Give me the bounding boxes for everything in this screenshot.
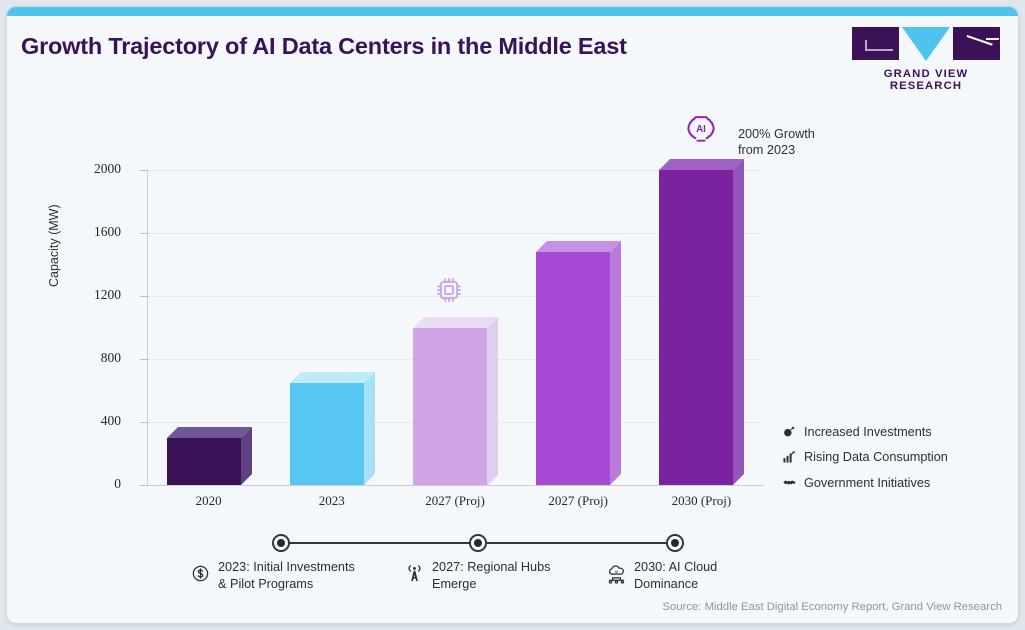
bar-top-face [536,241,621,252]
annotation-line-2: from 2023 [738,142,858,158]
legend-item-government: Government Initiatives [779,470,1009,496]
bar-front-face [659,170,733,485]
timeline-line-1: 2030: AI Cloud [634,560,717,574]
y-axis-title: Capacity (MW) [47,204,61,287]
legend-label: Rising Data Consumption [804,450,948,464]
growth-annotation: 200% Growth from 2023 [738,126,858,158]
y-tick-mark [140,233,148,234]
bar-side-face [733,159,744,485]
timeline-text: 2027: Regional Hubs Emerge [432,559,572,593]
x-tick-label: 2030 (Proj) [646,493,756,509]
timeline-item-2027: 2027: Regional Hubs Emerge [401,559,572,593]
y-tick-label: 2000 [75,161,121,177]
timeline-line-2: & Pilot Programs [218,577,313,591]
top-accent-bar [7,7,1018,16]
legend-label: Increased Investments [804,425,932,439]
handshake-icon [779,475,799,490]
x-tick-label: 2027 (Proj) [523,493,633,509]
svg-text:AI: AI [614,569,618,574]
money-growth-icon [779,425,799,439]
x-tick-label: 2027 (Proj) [400,493,510,509]
svg-text:AI: AI [696,124,706,135]
bar[interactable] [290,383,364,485]
bar-front-face [290,383,364,485]
timeline-dot-2023[interactable] [272,534,290,552]
bar-top-face [413,317,498,328]
y-tick-label: 1600 [75,224,121,240]
legend-item-data-consumption: Rising Data Consumption [779,445,1009,471]
y-tick-mark [140,422,148,423]
logo-wordmark: GRAND VIEW RESEARCH [848,68,1004,92]
chart-card: Growth Trajectory of AI Data Centers in … [6,6,1019,624]
timeline-line-2: Emerge [432,577,476,591]
bar-side-face [364,372,375,485]
x-axis-line [147,485,764,486]
bar-side-face [487,317,498,486]
bar-front-face [536,252,610,485]
page-title: Growth Trajectory of AI Data Centers in … [21,33,627,60]
y-tick-mark [140,359,148,360]
plot-area [147,170,763,485]
timeline-text: 2030: AI Cloud Dominance [634,559,774,593]
bar-front-face [167,438,241,485]
y-tick-mark [140,296,148,297]
bar[interactable] [659,170,733,485]
bar-top-face [290,372,375,383]
legend-item-investments: Increased Investments [779,419,1009,445]
bar[interactable] [167,438,241,485]
bar-top-face [167,427,252,438]
annotation-line-1: 200% Growth [738,126,858,142]
y-tick-label: 400 [75,413,121,429]
y-tick-label: 800 [75,350,121,366]
y-tick-mark [140,170,148,171]
cpu-chip-icon [434,275,464,310]
timeline-dot-2027[interactable] [469,534,487,552]
bar-side-face [610,241,621,485]
bar-top-face [659,159,744,170]
brand-logo: GRAND VIEW RESEARCH [848,27,1004,92]
timeline-line-2: Dominance [634,577,698,591]
chart-legend: Increased Investments Rising Data Consum… [779,419,1009,496]
y-tick-label: 1200 [75,287,121,303]
ai-brain-icon: AI [683,111,719,152]
bar[interactable] [413,328,487,486]
timeline-line-1: 2027: Regional Hubs [432,560,551,574]
dollar-circle-icon [187,559,213,583]
timeline-dot-2030[interactable] [666,534,684,552]
source-note: Source: Middle East Digital Economy Repo… [663,601,1002,613]
bar-chart-growth-icon [779,450,799,464]
legend-label: Government Initiatives [804,476,930,490]
bar-front-face [413,328,487,486]
cell-tower-icon [401,559,427,583]
timeline-item-2023: 2023: Initial Investments & Pilot Progra… [187,559,358,593]
x-tick-label: 2020 [154,493,264,509]
x-tick-label: 2023 [277,493,387,509]
timeline-text: 2023: Initial Investments & Pilot Progra… [218,559,358,593]
logo-marks [848,27,1004,63]
y-tick-mark [140,485,148,486]
logo-r-block [953,27,1000,60]
timeline-item-2030: AI 2030: AI Cloud Dominance [603,559,774,593]
logo-v-triangle [902,27,950,61]
y-tick-label: 0 [75,476,121,492]
timeline-line-1: 2023: Initial Investments [218,560,355,574]
ai-cloud-icon: AI [603,559,629,585]
logo-g-block [852,27,899,60]
bar[interactable] [536,252,610,485]
